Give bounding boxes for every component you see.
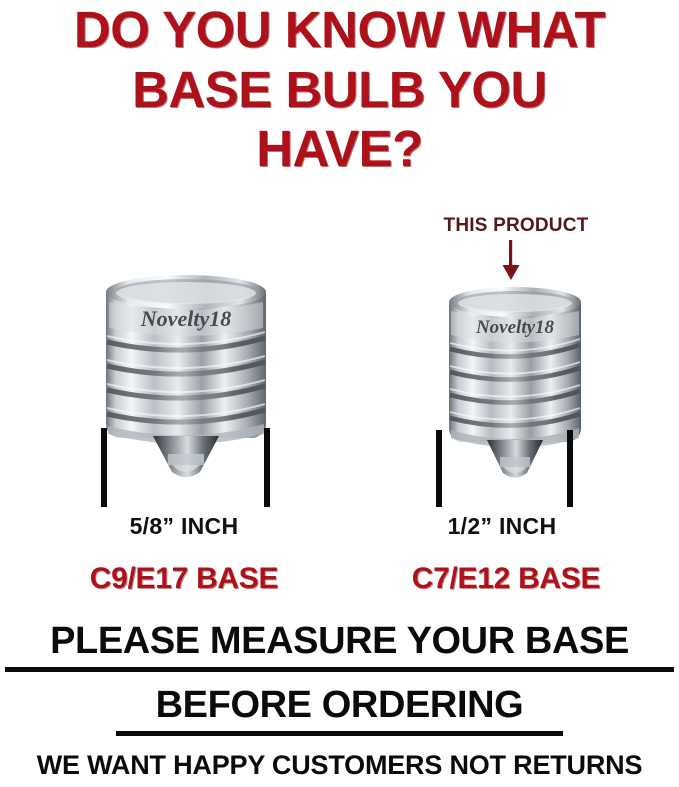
measurement-label-right: 1/2” INCH (422, 513, 582, 540)
headline-line-3: HAVE? (0, 123, 679, 174)
arrow-down-icon (497, 240, 525, 280)
infographic-canvas: DO YOU KNOW WHAT BASE BULB YOU HAVE? THI… (0, 0, 679, 787)
footer-underline-2 (116, 731, 563, 736)
footer-underline-1 (5, 667, 674, 672)
this-product-label: THIS PRODUCT (404, 215, 628, 237)
headline-line-2: BASE BULB YOU (0, 64, 679, 115)
footer-line-2: BEFORE ORDERING (0, 686, 679, 724)
measure-tick-right-bulb-start (436, 430, 442, 507)
bulb-emboss-text-right: Novelty18 (475, 317, 555, 338)
measurement-label-left: 5/8” INCH (86, 513, 282, 540)
base-type-label-left: C9/E17 BASE (60, 562, 308, 596)
bulb-emboss-text-left: Novelty18 (140, 306, 231, 331)
footer-line-1: PLEASE MEASURE YOUR BASE (0, 622, 679, 660)
footer-line-3: WE WANT HAPPY CUSTOMERS NOT RETURNS (0, 752, 679, 779)
base-type-label-right: C7/E12 BASE (382, 562, 630, 596)
measure-tick-right-bulb-end (567, 430, 573, 507)
measure-tick-left-bulb-end (264, 428, 270, 507)
bulb-base-c9-e17: Novelty18 (96, 266, 276, 491)
headline-line-1: DO YOU KNOW WHAT (0, 4, 679, 55)
measure-tick-left-bulb-start (101, 428, 107, 507)
